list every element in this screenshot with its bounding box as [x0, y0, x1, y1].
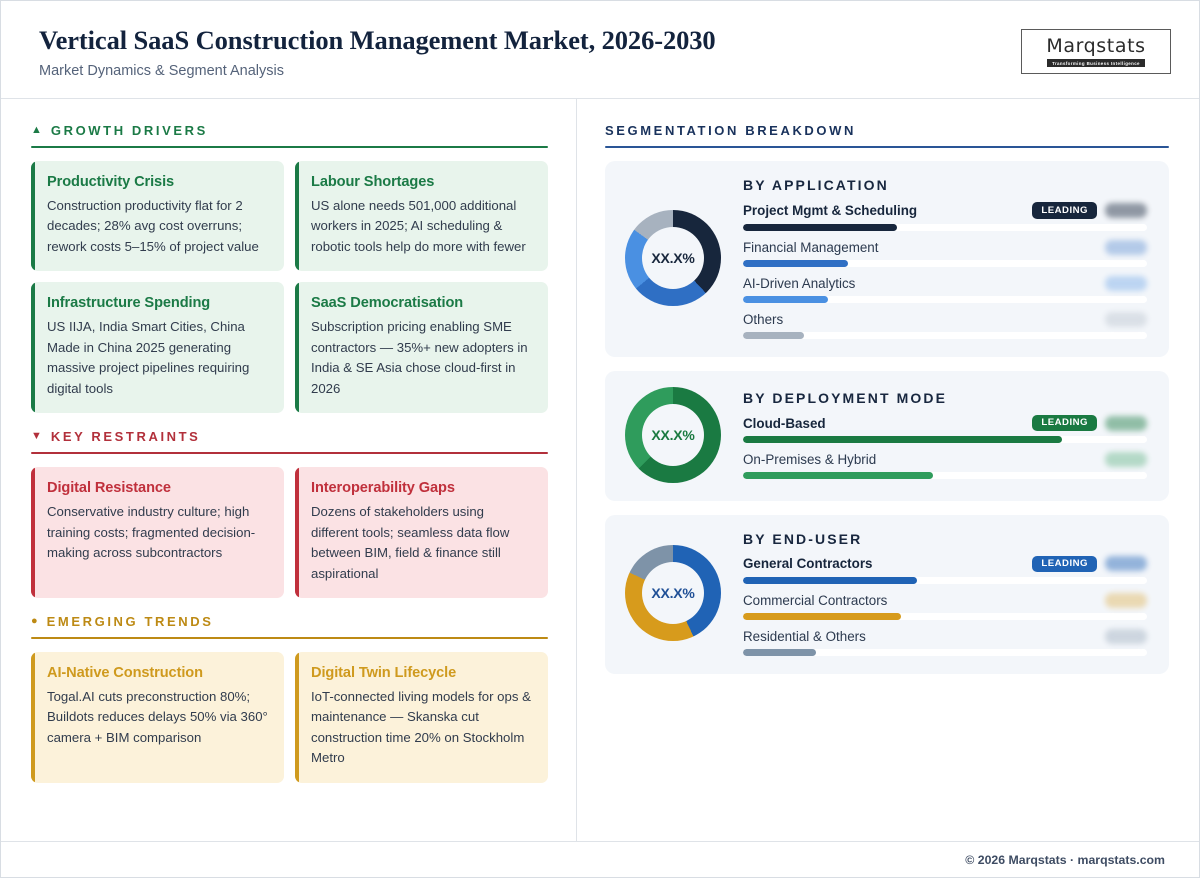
insight-card-text: Construction productivity flat for 2 dec…	[47, 196, 269, 257]
segment-bar-track	[743, 296, 1147, 303]
segment-row-header: Residential & Others	[743, 629, 1147, 644]
logo-wordmark: Marqstats	[1046, 37, 1145, 56]
triangle-down-icon: ▼	[31, 431, 42, 442]
segment-row-header: Cloud-BasedLEADING	[743, 415, 1147, 432]
page-subtitle: Market Dynamics & Segment Analysis	[39, 63, 716, 79]
infographic-page: Vertical SaaS Construction Management Ma…	[0, 0, 1200, 878]
segment-row: AI-Driven Analytics	[743, 276, 1147, 303]
insight-card-title: Digital Twin Lifecycle	[311, 665, 533, 681]
donut-chart: XX.X%	[625, 387, 721, 483]
page-body: ▲GROWTH DRIVERSProductivity CrisisConstr…	[1, 99, 1199, 841]
segment-label: Financial Management	[743, 240, 1097, 255]
insight-card-text: Subscription pricing enabling SME contra…	[311, 317, 533, 399]
segment-label: General Contractors	[743, 556, 1024, 571]
segment-row: Residential & Others	[743, 629, 1147, 656]
segment-label: Residential & Others	[743, 629, 1097, 644]
section-rule-growth	[31, 146, 548, 148]
segment-label: AI-Driven Analytics	[743, 276, 1097, 291]
segmentation-panel: XX.X%BY DEPLOYMENT MODECloud-BasedLEADIN…	[605, 371, 1169, 501]
segmentation-rule	[605, 146, 1169, 148]
segment-label: Others	[743, 312, 1097, 327]
segment-value-redacted	[1105, 556, 1147, 571]
section-header-restraints: ▼KEY RESTRAINTS	[31, 429, 548, 454]
insight-card-title: AI-Native Construction	[47, 665, 269, 681]
segmentation-panel-title: BY END-USER	[743, 531, 1147, 547]
segment-bar-fill	[743, 472, 933, 479]
insight-card: SaaS DemocratisationSubscription pricing…	[295, 282, 548, 413]
segment-row: On-Premises & Hybrid	[743, 452, 1147, 479]
donut-center-label: XX.X%	[651, 585, 694, 601]
page-title: Vertical SaaS Construction Management Ma…	[39, 25, 716, 55]
segment-value-redacted	[1105, 203, 1147, 218]
segment-row: General ContractorsLEADING	[743, 556, 1147, 585]
donut-chart: XX.X%	[625, 545, 721, 641]
insight-card: Digital Twin LifecycleIoT-connected livi…	[295, 652, 548, 783]
segment-bar-fill	[743, 224, 897, 231]
segmentation-panel-title: BY APPLICATION	[743, 177, 1147, 193]
segment-row: Others	[743, 312, 1147, 339]
insight-card-title: Interoperability Gaps	[311, 480, 533, 496]
donut-center: XX.X%	[642, 404, 704, 466]
page-header: Vertical SaaS Construction Management Ma…	[1, 1, 1199, 99]
insight-card-text: Dozens of stakeholders using different t…	[311, 502, 533, 584]
donut-center-label: XX.X%	[651, 427, 694, 443]
section-header-trends: ●EMERGING TRENDS	[31, 614, 548, 639]
donut-center-label: XX.X%	[651, 250, 694, 266]
insight-card-title: SaaS Democratisation	[311, 295, 533, 311]
segment-bar-track	[743, 613, 1147, 620]
page-footer: © 2026 Marqstats · marqstats.com	[1, 841, 1199, 877]
triangle-up-icon: ▲	[31, 125, 42, 136]
card-grid-trends: AI-Native ConstructionTogal.AI cuts prec…	[31, 652, 548, 783]
section-rule-trends	[31, 637, 548, 639]
segment-bar-fill	[743, 260, 848, 267]
insight-card: Productivity CrisisConstruction producti…	[31, 161, 284, 271]
segmentation-panel-body: BY APPLICATIONProject Mgmt & SchedulingL…	[743, 177, 1147, 339]
card-grid-growth: Productivity CrisisConstruction producti…	[31, 161, 548, 413]
segment-label: Cloud-Based	[743, 416, 1024, 431]
segment-bar-track	[743, 224, 1147, 231]
insight-card: Labour ShortagesUS alone needs 501,000 a…	[295, 161, 548, 271]
right-column: SEGMENTATION BREAKDOWN XX.X%BY APPLICATI…	[577, 99, 1199, 841]
segment-bar-track	[743, 260, 1147, 267]
segmentation-panel-body: BY DEPLOYMENT MODECloud-BasedLEADINGOn-P…	[743, 390, 1147, 480]
segment-bar-track	[743, 436, 1147, 443]
marqstats-logo: Marqstats Transforming Business Intellig…	[1021, 29, 1171, 74]
insight-card-title: Digital Resistance	[47, 480, 269, 496]
insight-card: Infrastructure SpendingUS IIJA, India Sm…	[31, 282, 284, 413]
segment-label: Project Mgmt & Scheduling	[743, 203, 1024, 218]
insight-card-text: IoT-connected living models for ops & ma…	[311, 687, 533, 769]
insight-card-title: Productivity Crisis	[47, 174, 269, 190]
segment-bar-fill	[743, 296, 828, 303]
segmentation-panel: XX.X%BY END-USERGeneral ContractorsLEADI…	[605, 515, 1169, 675]
segment-bar-fill	[743, 577, 917, 584]
segment-label: Commercial Contractors	[743, 593, 1097, 608]
segment-bar-track	[743, 649, 1147, 656]
copyright-text: © 2026 Marqstats · marqstats.com	[965, 853, 1165, 867]
segment-bar-fill	[743, 613, 901, 620]
section-header-growth: ▲GROWTH DRIVERS	[31, 123, 548, 148]
segmentation-panel-body: BY END-USERGeneral ContractorsLEADINGCom…	[743, 531, 1147, 657]
card-grid-restraints: Digital ResistanceConservative industry …	[31, 467, 548, 598]
segment-row: Financial Management	[743, 240, 1147, 267]
segment-value-redacted	[1105, 593, 1147, 608]
logo-tagline: Transforming Business Intelligence	[1047, 59, 1145, 67]
segment-row-header: AI-Driven Analytics	[743, 276, 1147, 291]
segment-row: Cloud-BasedLEADING	[743, 415, 1147, 444]
circle-dot-icon: ●	[31, 616, 38, 627]
insight-card-title: Labour Shortages	[311, 174, 533, 190]
insight-card: AI-Native ConstructionTogal.AI cuts prec…	[31, 652, 284, 783]
donut-chart: XX.X%	[625, 210, 721, 306]
segmentation-panels: XX.X%BY APPLICATIONProject Mgmt & Schedu…	[605, 161, 1169, 674]
leading-badge: LEADING	[1032, 415, 1097, 432]
segment-bar-track	[743, 577, 1147, 584]
insight-card-text: US IIJA, India Smart Cities, China Made …	[47, 317, 269, 399]
section-title-growth: GROWTH DRIVERS	[51, 123, 208, 138]
segment-bar-track	[743, 472, 1147, 479]
segmentation-section-header: SEGMENTATION BREAKDOWN	[605, 123, 1169, 148]
segment-row: Commercial Contractors	[743, 593, 1147, 620]
segment-value-redacted	[1105, 629, 1147, 644]
segmentation-panel: XX.X%BY APPLICATIONProject Mgmt & Schedu…	[605, 161, 1169, 357]
segmentation-title: SEGMENTATION BREAKDOWN	[605, 123, 856, 138]
insight-card: Digital ResistanceConservative industry …	[31, 467, 284, 598]
segment-row-header: Others	[743, 312, 1147, 327]
segment-value-redacted	[1105, 276, 1147, 291]
segment-row-header: General ContractorsLEADING	[743, 556, 1147, 573]
left-column: ▲GROWTH DRIVERSProductivity CrisisConstr…	[1, 99, 577, 841]
section-title-trends: EMERGING TRENDS	[47, 614, 214, 629]
donut-center: XX.X%	[642, 227, 704, 289]
segment-row-header: Commercial Contractors	[743, 593, 1147, 608]
segment-row-header: Project Mgmt & SchedulingLEADING	[743, 202, 1147, 219]
segmentation-panel-title: BY DEPLOYMENT MODE	[743, 390, 1147, 406]
insight-card: Interoperability GapsDozens of stakehold…	[295, 467, 548, 598]
donut-center: XX.X%	[642, 562, 704, 624]
segment-value-redacted	[1105, 452, 1147, 467]
segment-value-redacted	[1105, 312, 1147, 327]
leading-badge: LEADING	[1032, 202, 1097, 219]
segment-bar-fill	[743, 332, 804, 339]
leading-badge: LEADING	[1032, 556, 1097, 573]
insight-card-text: US alone needs 501,000 additional worker…	[311, 196, 533, 257]
insight-card-text: Togal.AI cuts preconstruction 80%; Build…	[47, 687, 269, 748]
segment-row-header: On-Premises & Hybrid	[743, 452, 1147, 467]
segment-bar-track	[743, 332, 1147, 339]
insight-card-title: Infrastructure Spending	[47, 295, 269, 311]
segment-value-redacted	[1105, 240, 1147, 255]
segment-row: Project Mgmt & SchedulingLEADING	[743, 202, 1147, 231]
insight-card-text: Conservative industry culture; high trai…	[47, 502, 269, 563]
segment-label: On-Premises & Hybrid	[743, 452, 1097, 467]
segment-bar-fill	[743, 649, 816, 656]
segment-row-header: Financial Management	[743, 240, 1147, 255]
section-rule-restraints	[31, 452, 548, 454]
segment-value-redacted	[1105, 416, 1147, 431]
section-title-restraints: KEY RESTRAINTS	[51, 429, 201, 444]
header-text-block: Vertical SaaS Construction Management Ma…	[39, 25, 716, 79]
segment-bar-fill	[743, 436, 1062, 443]
